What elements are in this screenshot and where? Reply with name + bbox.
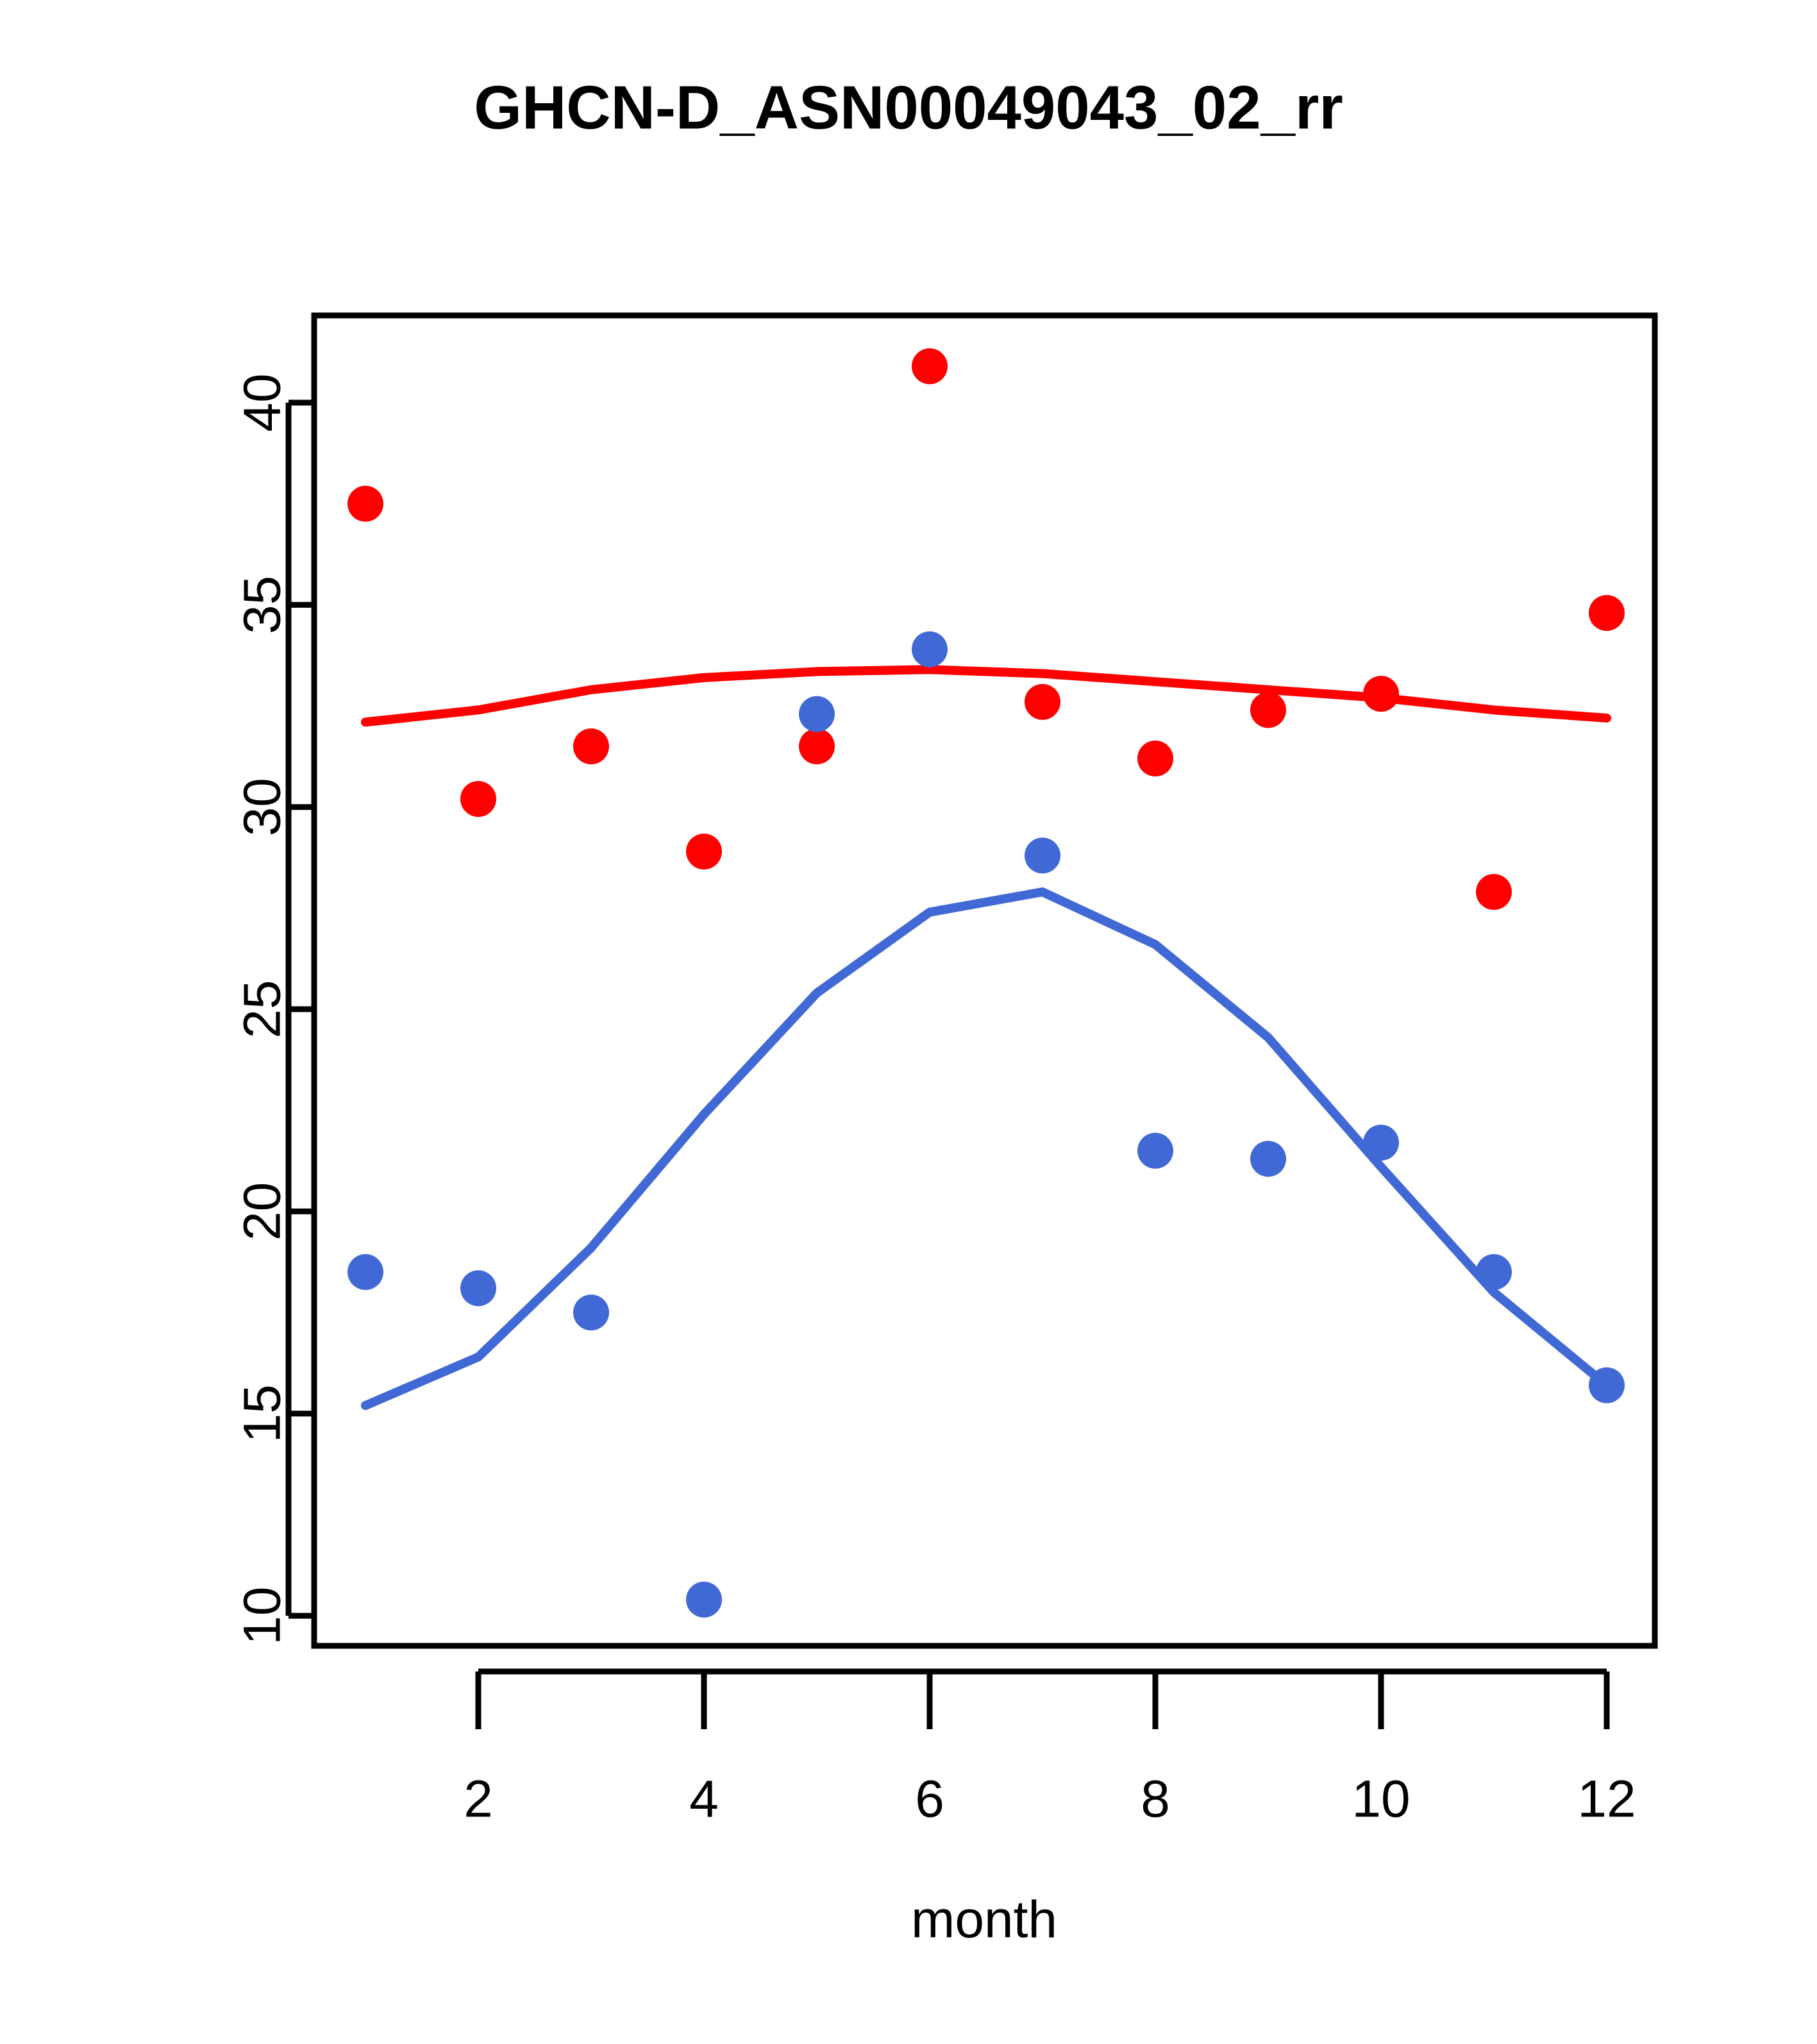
data-point-min	[347, 1254, 383, 1290]
data-point-max	[1025, 684, 1060, 720]
x-tick-label: 8	[1141, 1770, 1170, 1829]
data-point-max	[799, 728, 835, 764]
data-point-max	[1363, 676, 1399, 712]
data-point-max	[460, 781, 496, 817]
x-tick-label: 12	[1577, 1770, 1636, 1829]
data-point-max	[1589, 595, 1625, 631]
data-point-max	[347, 486, 383, 522]
plot-root: GHCN-D_ASN00049043_02_rr 10152025303540 …	[0, 0, 1817, 2044]
x-tick-label: 10	[1352, 1770, 1410, 1829]
data-point-max	[1137, 741, 1173, 776]
data-point-max	[912, 348, 948, 384]
x-axis-title: month	[911, 1891, 1057, 1949]
x-tick-label: 4	[689, 1770, 719, 1829]
chart-canvas: GHCN-D_ASN00049043_02_rr 10152025303540 …	[0, 0, 1817, 2044]
data-point-min	[912, 632, 948, 667]
data-point-min	[686, 1582, 722, 1618]
y-tick-label: 35	[233, 576, 292, 634]
y-tick-label: 20	[233, 1182, 292, 1241]
data-point-max	[1250, 692, 1286, 728]
data-point-min	[460, 1270, 496, 1306]
data-point-min	[1363, 1125, 1399, 1160]
data-point-max	[573, 728, 609, 764]
x-tick-label: 2	[464, 1770, 493, 1829]
chart-title: GHCN-D_ASN00049043_02_rr	[474, 73, 1343, 142]
y-tick-label: 40	[233, 373, 292, 431]
data-point-min	[573, 1294, 609, 1330]
data-point-min	[1589, 1368, 1625, 1403]
data-point-min	[1250, 1141, 1286, 1177]
data-point-min	[1476, 1254, 1512, 1290]
data-point-min	[799, 696, 835, 732]
data-point-min	[1137, 1133, 1173, 1169]
y-tick-label: 30	[233, 778, 292, 836]
y-tick-label: 25	[233, 980, 292, 1038]
y-tick-label: 15	[233, 1384, 292, 1443]
data-point-max	[1476, 874, 1512, 910]
data-point-min	[1025, 837, 1060, 873]
x-tick-label: 6	[915, 1770, 944, 1829]
y-tick-label: 10	[233, 1586, 292, 1645]
data-point-max	[686, 834, 722, 869]
